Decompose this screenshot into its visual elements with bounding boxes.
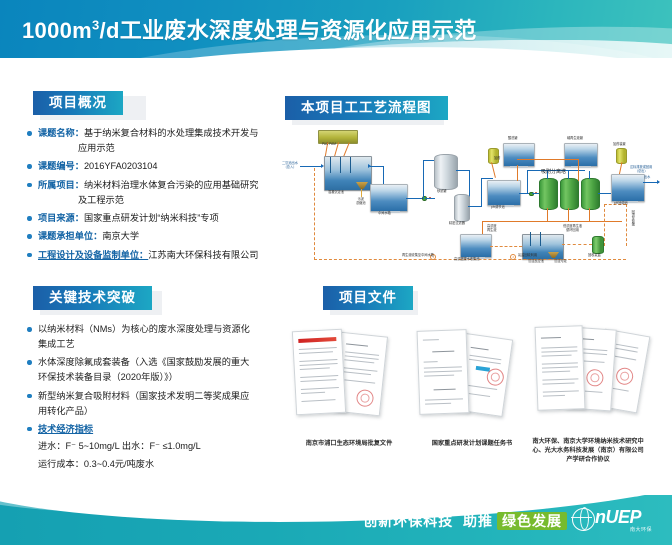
- keytech-line2-2: 用转化产品）: [38, 404, 278, 419]
- diagram-label-outlet: 出水: [644, 176, 650, 180]
- mixer-shaft-5: [540, 232, 541, 246]
- document-sheet-front-3: [535, 325, 586, 411]
- mixer-shaft-2: [340, 157, 341, 173]
- keytech-indicator-label: 技术经济指标: [38, 424, 93, 434]
- overview-label-0: 课题名称：: [38, 128, 84, 138]
- document-thumbnail-2: [412, 328, 532, 438]
- arrow-final-out: [657, 180, 660, 184]
- pipe-dashed-vert-2: [626, 204, 627, 246]
- diagram-label-ph-return: pH回调池: [614, 202, 628, 206]
- diagram-label-inlet: 二沉池出水（总入）: [282, 162, 298, 170]
- diagram-label-sed-reaction: 沉淀反应池: [528, 260, 544, 264]
- overview-label-3: 项目来源：: [38, 213, 84, 223]
- page-footer: 创新环保科技 助推绿色发展 nUEP 南大环保: [0, 495, 672, 545]
- pipe-regen-3: [589, 208, 590, 222]
- ph-adjust-tank: [487, 180, 521, 206]
- list-item: 课题编号：2016YFA0203104: [26, 159, 278, 174]
- list-item: 新型纳米复合吸附材料（国家技术发明二等奖成果应 用转化产品）: [26, 389, 278, 419]
- pipe-acid-down: [517, 165, 518, 181]
- diagram-label-sludge: 污泥浓缩池: [356, 198, 366, 206]
- pipe-dashed-return-up: [314, 168, 315, 260]
- high-concentration-collection-tank: [460, 234, 492, 258]
- ph-return-tank: [611, 174, 645, 202]
- overview-value-2: 纳米材料治理水体复合污染的应用基础研究: [84, 180, 259, 190]
- keytech-line1-2: 新型纳米复合吸附材料（国家技术发明二等奖成果应: [38, 391, 249, 401]
- pipe-dashed-vert-right: [604, 204, 605, 246]
- pipe-inlet: [300, 166, 322, 167]
- keytech-line2-1: 环保技术装备目录（2020年版）》）: [38, 370, 278, 385]
- diagram-label-dosing: PAC PAM: [322, 143, 336, 147]
- page-title-rest: /d工业废水深度处理与资源化应用示范: [100, 18, 477, 43]
- overview-section-badge: 项目概况: [33, 91, 123, 115]
- slide-root: 1000m3/d工业废水深度处理与资源化应用示范 项目概况 课题名称：基于纳米复…: [0, 0, 672, 545]
- pipe-up-sand: [423, 160, 424, 199]
- pipe-tower3-in: [589, 171, 590, 179]
- adsorption-tower-2: [560, 178, 579, 210]
- diagram-label-dosing-2: 加药: [494, 157, 500, 161]
- diagram-label-dosing-3: 加药装置: [613, 143, 626, 147]
- company-logo: nUEP 南大环保: [572, 506, 664, 536]
- keytech-indicator-line2: 运行成本：0.3~0.4元/吨废水: [38, 457, 278, 472]
- document-caption-3-line3: 产学研合作协议: [508, 456, 668, 465]
- diagram-label-sand-filter: 砂滤罐: [437, 190, 447, 194]
- adsorption-tower-1: [539, 178, 558, 210]
- pipe-up-ph: [481, 178, 482, 207]
- pipe-regen-2: [568, 208, 569, 222]
- page-title-superscript: 3: [92, 18, 100, 33]
- diagram-label-high-conc-regen: 高浓度再生液: [487, 225, 497, 233]
- list-item: 以纳米材料（NMs）为核心的废水深度处理与资源化 集成工艺: [26, 322, 278, 352]
- list-item: 课题名称：基于纳米复合材料的水处理集成技术开发与 应用示范: [26, 126, 278, 156]
- overview-value-3: 国家重点研发计划“纳米科技”专项: [84, 213, 219, 223]
- diagram-label-return-front: 回流至前端: [630, 210, 634, 226]
- logo-subtitle: 南大环保: [630, 526, 652, 533]
- recovered-fluoride-salt-tank: [592, 236, 604, 254]
- pipe-sand-out: [456, 170, 470, 171]
- diagram-label-salt-recovery: 氟盐回收利用: [518, 254, 537, 258]
- arrow-coag: [368, 164, 371, 168]
- overview-label-1: 课题编号：: [38, 161, 84, 171]
- footer-slogan: 创新环保科技 助推绿色发展: [363, 511, 567, 531]
- list-item: 所属项目：纳米材料治理水体复合污染的应用基础研究 及工程示范: [26, 178, 278, 208]
- diagram-label-precipitate: 沉淀污泥: [554, 260, 567, 264]
- overview-label-5: 工程设计及设备监制单位：: [38, 250, 148, 260]
- diagram-label-recovered-salt: 回收氟盐: [588, 254, 601, 258]
- diagram-label-intermediate: 中间水箱: [378, 212, 391, 216]
- diagram-label-acid: 酸洗罐: [508, 137, 518, 141]
- list-item: 工程设计及设备监制单位：江苏南大环保科技有限公司: [26, 248, 278, 263]
- document-sheet-front-1: [292, 329, 346, 416]
- document-caption-3-line1: 南大环保、南京大学环境纳米技术研究中: [508, 438, 668, 447]
- overview-cont-0: 应用示范: [38, 141, 278, 156]
- keytech-section-badge: 关键技术突破: [33, 286, 152, 310]
- document-caption-3: 南大环保、南京大学环境纳米技术研究中 心、光大水务科技发展（南京）有限公司 产学…: [508, 438, 668, 464]
- mixer-shaft-3: [350, 157, 351, 173]
- document-caption-1-line1: 南京市浦口生态环境局批复文件: [286, 440, 412, 449]
- overview-value-1: 2016YFA0203104: [84, 161, 158, 171]
- list-item: 项目来源：国家重点研发计划“纳米科技”专项: [26, 211, 278, 226]
- acid-wash-tank: [503, 143, 535, 167]
- logo-wordmark: nUEP: [595, 507, 641, 528]
- diagram-label-low-conc-regen: 低浓度再生液循环回用: [563, 225, 582, 233]
- pipe-sludge: [361, 189, 362, 197]
- list-item: 技术经济指标 进水：F⁻ 5~10mg/L 出水：F⁻ ≤1.0mg/L 运行成…: [26, 422, 278, 472]
- documents-section-badge: 项目文件: [323, 286, 413, 310]
- document-thumbnail-3: [530, 324, 660, 440]
- document-thumbnail-1: [288, 328, 408, 438]
- pipe-up-tower: [527, 170, 528, 194]
- process-flow-diagram: 1 2 二沉池出水（总入） PAC PAM 混凝沉淀池 污泥浓缩池 中间水箱 砂…: [282, 126, 662, 268]
- overview-label-2: 所属项目：: [38, 180, 84, 190]
- pipe-tower2-in: [568, 171, 569, 179]
- pipe-acid-cross: [517, 159, 579, 160]
- pipe-prec-out: [468, 206, 482, 207]
- pipe-regen-1: [547, 208, 548, 222]
- list-item: 水体深度除氟成套装备（入选《国家鼓励发展的重大 环保技术装备目录（2020年版）…: [26, 355, 278, 385]
- mixer-shaft-1: [330, 157, 331, 173]
- overview-cont-2: 及工程示范: [38, 193, 278, 208]
- sand-filter-vessel: [434, 154, 458, 190]
- keytech-line1-1: 水体深度除氟成套装备（入选《国家鼓励发展的重大: [38, 357, 249, 367]
- keytech-line2-0: 集成工艺: [38, 337, 278, 352]
- diagram-label-high-conc-tank: 高浓度废水收集池: [454, 258, 480, 262]
- diagram-label-alkali: 碱再生液罐: [567, 137, 583, 141]
- diagram-label-ph-tank: pH调节池: [491, 206, 505, 210]
- overview-value-0: 基于纳米复合材料的水处理集成技术开发与: [84, 128, 259, 138]
- globe-icon: [572, 508, 595, 531]
- pipe-chem-1: [491, 162, 496, 178]
- page-title: 1000m3/d工业废水深度处理与资源化应用示范: [22, 13, 477, 45]
- footer-slogan-part1: 创新环保科技: [363, 513, 453, 529]
- pipe-coag-out: [370, 166, 384, 167]
- pipe-dashed-1: [490, 246, 522, 247]
- diagram-label-precision-filter: 精密过滤器: [449, 222, 465, 226]
- document-sheet-front-2: [417, 329, 470, 415]
- overview-list: 课题名称：基于纳米复合材料的水处理集成技术开发与 应用示范 课题编号：2016Y…: [26, 126, 278, 266]
- intermediate-water-tank: [370, 184, 408, 212]
- diagram-label-discharge: 达标排放或回用（总出）: [630, 166, 652, 174]
- pipe-dose-3: [343, 142, 349, 156]
- keytech-indicator-line1: 进水：F⁻ 5~10mg/L 出水：F⁻ ≤1.0mg/L: [38, 439, 278, 454]
- page-title-prefix: 1000m: [22, 18, 92, 43]
- diagram-label-regen-collect: 再生液收集至中间水箱: [402, 254, 434, 258]
- flowchart-section-badge: 本项目工工艺流程图: [285, 96, 448, 120]
- diagram-label-coag-tank: 混凝沉淀池: [328, 191, 344, 195]
- footer-slogan-highlight: 绿色发展: [497, 512, 567, 530]
- list-item: 课题承担单位：南京大学: [26, 229, 278, 244]
- keytech-line1-0: 以纳米材料（NMs）为核心的废水深度处理与资源化: [38, 324, 250, 334]
- pipe-to-sand: [425, 198, 435, 199]
- document-caption-3-line2: 心、光大水务科技发展（南京）有限公司: [508, 447, 668, 456]
- pipe-tower-out: [598, 193, 612, 194]
- document-caption-1: 南京市浦口生态环境局批复文件: [286, 440, 412, 449]
- overview-label-4: 课题承担单位：: [38, 231, 102, 241]
- footer-slogan-part2: 助推: [463, 513, 493, 529]
- keytech-list: 以纳米材料（NMs）为核心的废水深度处理与资源化 集成工艺 水体深度除氟成套装备…: [26, 322, 278, 476]
- diagram-label-adsorption-tower: 吸附分离塔: [541, 170, 566, 176]
- overview-value-5: 江苏南大环保科技有限公司: [148, 250, 258, 260]
- pipe-alkali-down: [578, 159, 579, 181]
- alkali-regeneration-tank: [564, 143, 598, 167]
- overview-value-4: 南京大学: [102, 231, 139, 241]
- precision-filter: [454, 194, 470, 222]
- mixer-shaft-4: [530, 232, 531, 246]
- pipe-regen-header: [482, 221, 622, 222]
- pipe-dashed-2: [562, 244, 592, 245]
